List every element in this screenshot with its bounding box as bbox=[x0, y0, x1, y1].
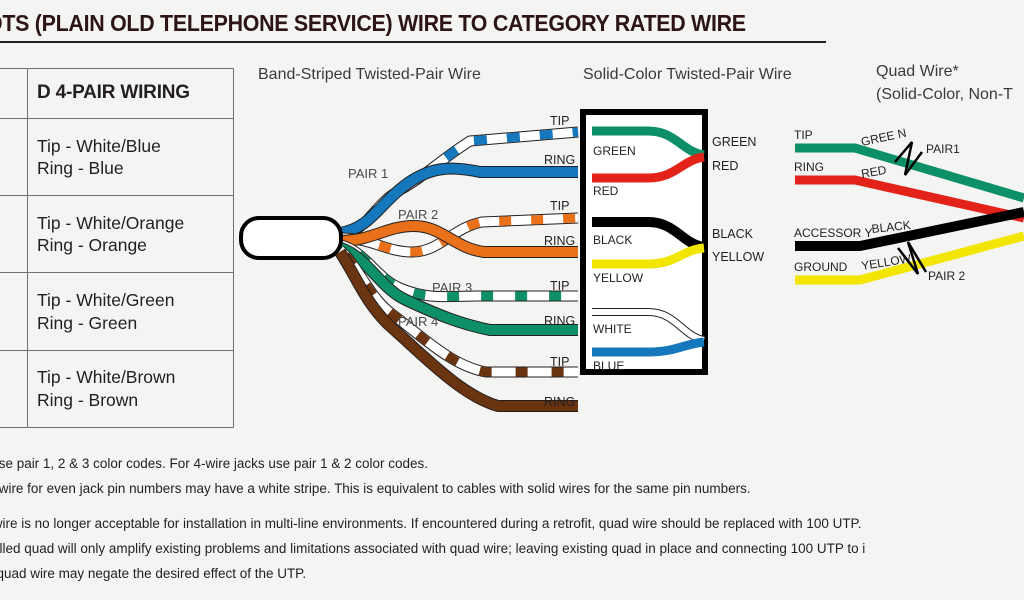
pair-3-label: PAIR 3 bbox=[432, 280, 472, 295]
pair-3-tip-label: TIP bbox=[550, 279, 569, 293]
quad-label-tip: TIP bbox=[794, 128, 813, 142]
pair-2-ring-label: RING bbox=[544, 234, 575, 248]
pair-2-tip-label: TIP bbox=[550, 199, 569, 213]
wiring-illustration: PAIR 1 TIP RING PAIR 2 TIP RING bbox=[0, 0, 1024, 600]
solid-out-label-black: BLACK bbox=[712, 227, 754, 241]
diagram-page: POTS (PLAIN OLD TELEPHONE SERVICE) WIRE … bbox=[0, 0, 1024, 600]
footnote-line-2: les, wire for even jack pin numbers may … bbox=[0, 481, 751, 497]
pair-1-label: PAIR 1 bbox=[348, 166, 388, 181]
cable-jacket bbox=[241, 218, 341, 258]
solid-out-label-yellow: YELLOW bbox=[712, 250, 764, 264]
quad-pair1-label: PAIR1 bbox=[926, 142, 960, 156]
solid-label-yellow: YELLOW bbox=[593, 271, 644, 285]
quad-note-line-2: nstalled quad will only amplify existing… bbox=[0, 541, 865, 557]
solid-out-label-red: RED bbox=[712, 159, 738, 173]
footnote-line-1: ks use pair 1, 2 & 3 color codes. For 4-… bbox=[0, 456, 428, 472]
quad-pair2-label: PAIR 2 bbox=[928, 269, 965, 283]
quad-note-line-3: the quad wire may negate the desired eff… bbox=[0, 566, 306, 582]
quad-color-green: GREE N bbox=[860, 126, 908, 149]
quad-label-ground: GROUND bbox=[794, 260, 848, 274]
solid-label-white: WHITE bbox=[593, 322, 632, 336]
quad-note-line-1: ad wire is no longer acceptable for inst… bbox=[0, 516, 862, 532]
quad-color-red: RED bbox=[860, 163, 888, 181]
pair-4-tip-label: TIP bbox=[550, 355, 569, 369]
quad-label-accessory: ACCESSOR Y bbox=[794, 226, 872, 240]
band-striped-group: PAIR 1 TIP RING PAIR 2 TIP RING bbox=[241, 114, 578, 409]
pair-1-tip-label: TIP bbox=[550, 114, 569, 128]
pair-3-ring-label: RING bbox=[544, 314, 575, 328]
pair-4-ring-label: RING bbox=[544, 395, 575, 409]
pair-2-label: PAIR 2 bbox=[398, 207, 438, 222]
solid-color-group: GREEN RED BLACK YELLOW WHITE BLUE GREEN … bbox=[583, 112, 764, 373]
solid-label-blue: BLUE bbox=[593, 359, 624, 373]
pair-1-ring-label: RING bbox=[544, 153, 575, 167]
quad-wire-group: TIP GREE N RING RED PAIR1 ACCESSOR Y BLA… bbox=[794, 126, 1024, 283]
solid-out-label-green: GREEN bbox=[712, 135, 756, 149]
solid-label-green: GREEN bbox=[593, 144, 636, 158]
quad-label-ring: RING bbox=[794, 160, 824, 174]
solid-label-red: RED bbox=[593, 184, 619, 198]
solid-label-black: BLACK bbox=[593, 233, 632, 247]
pair-4-label: PAIR 4 bbox=[398, 314, 438, 329]
